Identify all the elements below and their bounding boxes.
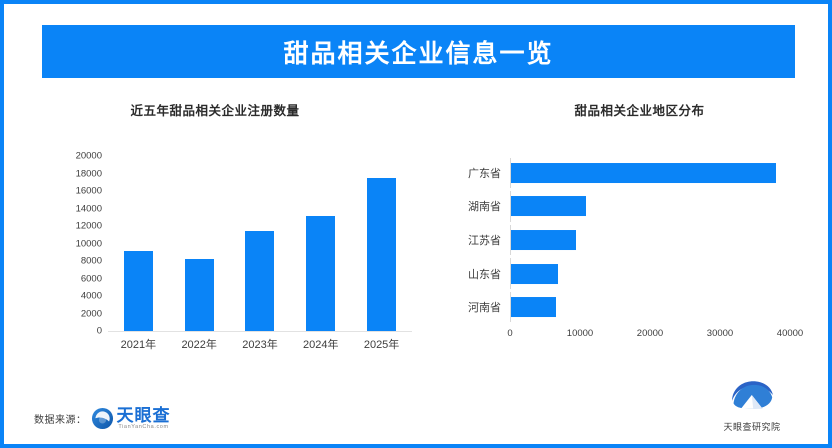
horizontal-bar-track <box>510 158 790 188</box>
horizontal-bar-fill <box>511 297 556 317</box>
horizontal-bar-track <box>510 292 790 322</box>
title-banner: 甜品相关企业信息一览 <box>42 25 795 78</box>
research-institute-brand: 天眼查研究院 <box>706 379 798 433</box>
horizontal-bar-chart: 广东省湖南省江苏省山东省河南省 010000200003000040000 <box>438 156 798 356</box>
column-chart-y-tick: 18000 <box>76 168 102 179</box>
column-chart-bar <box>124 251 153 332</box>
infographic-page: 甜品相关企业信息一览 近五年甜品相关企业注册数量 200001800016000… <box>0 0 832 448</box>
column-chart-bar <box>245 231 274 331</box>
tianyancha-domain: TianYanCha.com <box>117 425 171 431</box>
column-chart-x-tick: 2025年 <box>353 336 411 352</box>
column-chart-x-tick: 2023年 <box>231 336 289 352</box>
column-chart-x-tick: 2022年 <box>170 336 228 352</box>
column-chart-y-tick: 20000 <box>76 151 102 162</box>
horizontal-bar-category-label: 山东省 <box>438 266 510 282</box>
column-chart-y-tick: 4000 <box>81 291 102 302</box>
horizontal-bar-category-label: 江苏省 <box>438 232 510 248</box>
column-chart-y-tick: 8000 <box>81 256 102 267</box>
column-chart-y-tick: 14000 <box>76 203 102 214</box>
research-institute-name: 天眼查研究院 <box>706 420 798 433</box>
column-chart-y-tick: 0 <box>97 326 102 337</box>
data-source: 数据来源： 天眼查 TianYanCha.com <box>34 407 171 431</box>
horizontal-bar-fill <box>511 264 558 284</box>
column-chart-bar-slot <box>170 156 228 331</box>
horizontal-bar-category-label: 广东省 <box>438 165 510 181</box>
horizontal-bar-x-tick: 20000 <box>637 328 663 339</box>
horizontal-bar-x-tick: 30000 <box>707 328 733 339</box>
column-chart-plot-area <box>108 156 412 332</box>
column-chart-bar <box>306 216 335 331</box>
horizontal-bar-category-label: 湖南省 <box>438 198 510 214</box>
column-chart-x-tick: 2021年 <box>110 336 168 352</box>
column-chart-y-tick: 12000 <box>76 221 102 232</box>
horizontal-bar-rows: 广东省湖南省江苏省山东省河南省 <box>438 156 790 324</box>
column-chart-bar <box>367 178 396 331</box>
column-chart-y-tick: 16000 <box>76 186 102 197</box>
column-chart: 2000018000160001400012000100008000600040… <box>60 156 412 358</box>
horizontal-bar-row: 湖南省 <box>438 191 790 221</box>
column-chart-y-tick: 6000 <box>81 273 102 284</box>
chart-panel-regions: 甜品相关企业地区分布 广东省湖南省江苏省山东省河南省 0100002000030… <box>430 100 805 380</box>
column-chart-bar-slot <box>353 156 411 331</box>
aperture-eye-icon <box>91 407 114 430</box>
chart-panel-registrations: 近五年甜品相关企业注册数量 20000180001600014000120001… <box>50 100 420 380</box>
column-chart-y-tick: 10000 <box>76 238 102 249</box>
tianyancha-logo: 天眼查 TianYanCha.com <box>91 407 171 431</box>
horizontal-bar-row: 河南省 <box>438 292 790 322</box>
horizontal-bar-x-tick: 40000 <box>777 328 803 339</box>
data-source-label: 数据来源： <box>34 411 87 426</box>
horizontal-bar-category-label: 河南省 <box>438 299 510 315</box>
horizontal-bar-x-axis: 010000200003000040000 <box>510 326 790 346</box>
horizontal-bar-x-tick: 10000 <box>567 328 593 339</box>
horizontal-bar-track <box>510 258 790 288</box>
column-chart-y-axis: 2000018000160001400012000100008000600040… <box>60 156 106 331</box>
chart-title-registrations: 近五年甜品相关企业注册数量 <box>10 100 420 119</box>
horizontal-bar-fill <box>511 196 586 216</box>
arch-mountain-icon <box>729 379 776 414</box>
tianyancha-name: 天眼查 <box>117 407 171 424</box>
tianyancha-wordmark: 天眼查 TianYanCha.com <box>117 407 171 431</box>
horizontal-bar-row: 广东省 <box>438 158 790 188</box>
column-chart-bar-slot <box>292 156 350 331</box>
column-chart-bar <box>185 259 214 331</box>
horizontal-bar-x-tick: 0 <box>507 328 512 339</box>
horizontal-bar-fill <box>511 230 576 250</box>
column-chart-bar-slot <box>231 156 289 331</box>
column-chart-x-tick: 2024年 <box>292 336 350 352</box>
page-title: 甜品相关企业信息一览 <box>283 34 553 70</box>
horizontal-bar-row: 江苏省 <box>438 225 790 255</box>
horizontal-bar-row: 山东省 <box>438 258 790 288</box>
horizontal-bar-track <box>510 225 790 255</box>
column-chart-x-axis: 2021年2022年2023年2024年2025年 <box>108 336 412 352</box>
chart-title-regions: 甜品相关企业地区分布 <box>474 100 805 119</box>
horizontal-bar-fill <box>511 163 776 183</box>
column-chart-bar-slot <box>110 156 168 331</box>
column-chart-y-tick: 2000 <box>81 308 102 319</box>
horizontal-bar-track <box>510 191 790 221</box>
